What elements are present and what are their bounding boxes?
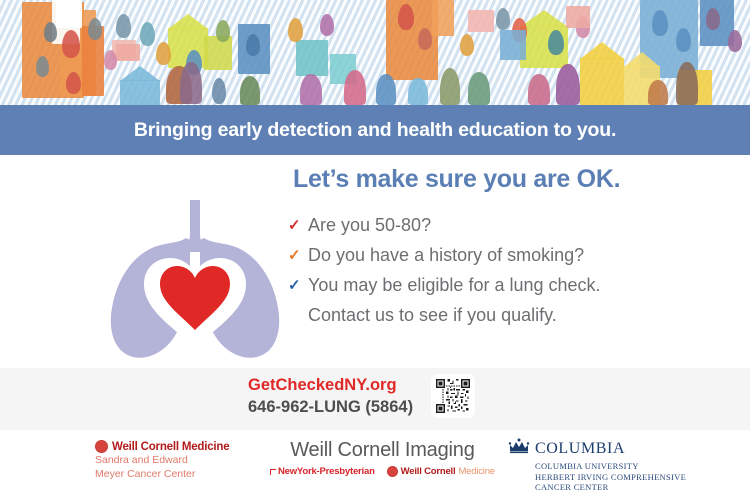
art-card-blue-1	[500, 30, 526, 60]
check-icon: ✓	[288, 272, 308, 299]
art-roof-blue-1	[120, 66, 160, 81]
art-roof-yellow-1	[580, 42, 624, 59]
art-figure-9	[156, 42, 171, 65]
art-card-white-1	[56, 0, 82, 28]
art-person-8	[440, 68, 460, 105]
art-figure-11	[216, 20, 230, 42]
logo-weill-cornell-medicine: Weill Cornell Medicine Sandra and Edward…	[95, 440, 229, 480]
art-person-4	[528, 74, 550, 105]
art-person-6	[648, 80, 668, 105]
art-figure-16	[460, 34, 474, 56]
art-figure-12	[246, 34, 260, 56]
art-figure-23	[706, 8, 720, 30]
columbia-lockup: COLUMBIA	[508, 438, 686, 459]
art-person-13	[376, 74, 396, 105]
partner-logo-row: Weill Cornell Medicine Sandra and Edward…	[0, 430, 750, 500]
qr-code[interactable]	[431, 374, 475, 418]
art-card-pink-2	[116, 44, 140, 61]
art-person-11	[344, 70, 366, 105]
community-artwork-banner	[0, 0, 750, 105]
art-roof-yellowgreen-1	[168, 14, 208, 29]
art-figure-17	[496, 8, 510, 30]
checklist-item-label: You may be eligible for a lung check.	[308, 272, 601, 299]
contact-lines: GetCheckedNY.org 646-962-LUNG (5864)	[248, 374, 413, 418]
checklist-item: ✓ Are you 50-80?	[288, 212, 738, 239]
art-figure-13	[212, 78, 226, 104]
eligibility-checklist: ✓ Are you 50-80? ✓ Do you have a history…	[288, 212, 738, 299]
phone-number[interactable]: 646-962-LUNG (5864)	[248, 396, 413, 418]
art-figure-15	[418, 28, 432, 50]
art-figure-26	[320, 14, 334, 36]
wci-wcm-bold-text: Weill Cornell	[401, 466, 456, 477]
art-figure-22	[676, 28, 691, 52]
art-figure-4	[66, 72, 81, 94]
wcm-subline-1: Sandra and Edward	[95, 454, 229, 467]
tagline-text: Bringing early detection and health educ…	[134, 119, 616, 142]
art-roof-yellow-2	[624, 52, 660, 67]
checklist-item-label: Are you 50-80?	[308, 212, 431, 239]
art-person-10	[300, 74, 322, 105]
art-card-teal-1	[296, 40, 328, 76]
art-figure-2	[36, 56, 49, 77]
art-figure-24	[728, 30, 742, 52]
wcm-lockup: Weill Cornell Medicine	[95, 440, 229, 453]
art-person-9	[408, 78, 428, 105]
art-figure-7	[104, 50, 117, 70]
checklist-item: ✓ Do you have a history of smoking?	[288, 242, 738, 269]
art-figure-14	[398, 4, 414, 30]
checklist-continuation-text: Contact us to see if you qualify.	[308, 302, 738, 329]
art-person-2	[180, 62, 202, 104]
wci-partner-lockup: NewYork-Presbyterian Weill Cornell Medic…	[270, 466, 495, 477]
columbia-subline-2: HERBERT IRVING COMPREHENSIVE	[535, 472, 686, 483]
art-figure-21	[652, 10, 668, 36]
nyp-wordmark: NewYork-Presbyterian	[278, 466, 375, 477]
wci-wcm-lockup: Weill Cornell Medicine	[387, 466, 495, 477]
art-card-pink-3	[468, 10, 494, 32]
art-house-yellowgreen-2	[204, 36, 232, 70]
crown-icon	[508, 438, 530, 459]
flyer-root: Bringing early detection and health educ…	[0, 0, 750, 500]
lungs-with-heart-illustration	[100, 200, 295, 365]
contact-inner: GetCheckedNY.org 646-962-LUNG (5864)	[248, 374, 475, 418]
art-building-orange-5	[432, 0, 454, 36]
art-figure-25	[288, 18, 303, 42]
wcm-seal-icon	[95, 440, 108, 453]
logo-weill-cornell-imaging: Weill Cornell Imaging NewYork-Presbyteri…	[270, 439, 495, 477]
website-link[interactable]: GetCheckedNY.org	[248, 374, 413, 396]
main-content: Let’s make sure you are OK. ✓ Are you 50…	[0, 155, 750, 368]
art-house-yellow-1	[580, 58, 624, 105]
columbia-wordmark: COLUMBIA	[535, 440, 625, 458]
art-figure-5	[88, 18, 102, 40]
tagline-banner: Bringing early detection and health educ…	[0, 105, 750, 155]
checklist-item: ✓ You may be eligible for a lung check.	[288, 272, 738, 299]
contact-band: GetCheckedNY.org 646-962-LUNG (5864)	[0, 368, 750, 430]
art-roof-yellowgreen-3	[520, 10, 568, 27]
logo-columbia: COLUMBIA COLUMBIA UNIVERSITY HERBERT IRV…	[508, 438, 686, 493]
wci-wordmark: Weill Cornell Imaging	[270, 439, 495, 462]
check-icon: ✓	[288, 212, 308, 239]
art-person-7	[468, 72, 490, 105]
wcm-subline-2: Meyer Cancer Center	[95, 468, 229, 481]
art-person-5	[676, 62, 698, 105]
columbia-subline-1: COLUMBIA UNIVERSITY	[535, 461, 686, 472]
art-card-pink-4	[566, 6, 590, 28]
wci-wcm-light-text: Medicine	[458, 466, 494, 477]
art-person-12	[240, 76, 260, 105]
checklist-item-label: Do you have a history of smoking?	[308, 242, 584, 269]
copy-block: Let’s make sure you are OK. ✓ Are you 50…	[288, 165, 738, 329]
headline: Let’s make sure you are OK.	[293, 165, 738, 194]
art-house-blue-1	[120, 80, 160, 105]
art-figure-8	[140, 22, 155, 46]
art-person-3	[556, 64, 580, 105]
wcm-seal-icon	[387, 466, 398, 477]
art-figure-3	[62, 30, 80, 58]
columbia-subline-3: CANCER CENTER	[535, 482, 686, 493]
wcm-wordmark: Weill Cornell Medicine	[112, 441, 229, 453]
nyp-mark-icon	[270, 469, 276, 475]
art-figure-6	[116, 14, 131, 38]
art-figure-19	[548, 30, 564, 55]
check-icon: ✓	[288, 242, 308, 269]
